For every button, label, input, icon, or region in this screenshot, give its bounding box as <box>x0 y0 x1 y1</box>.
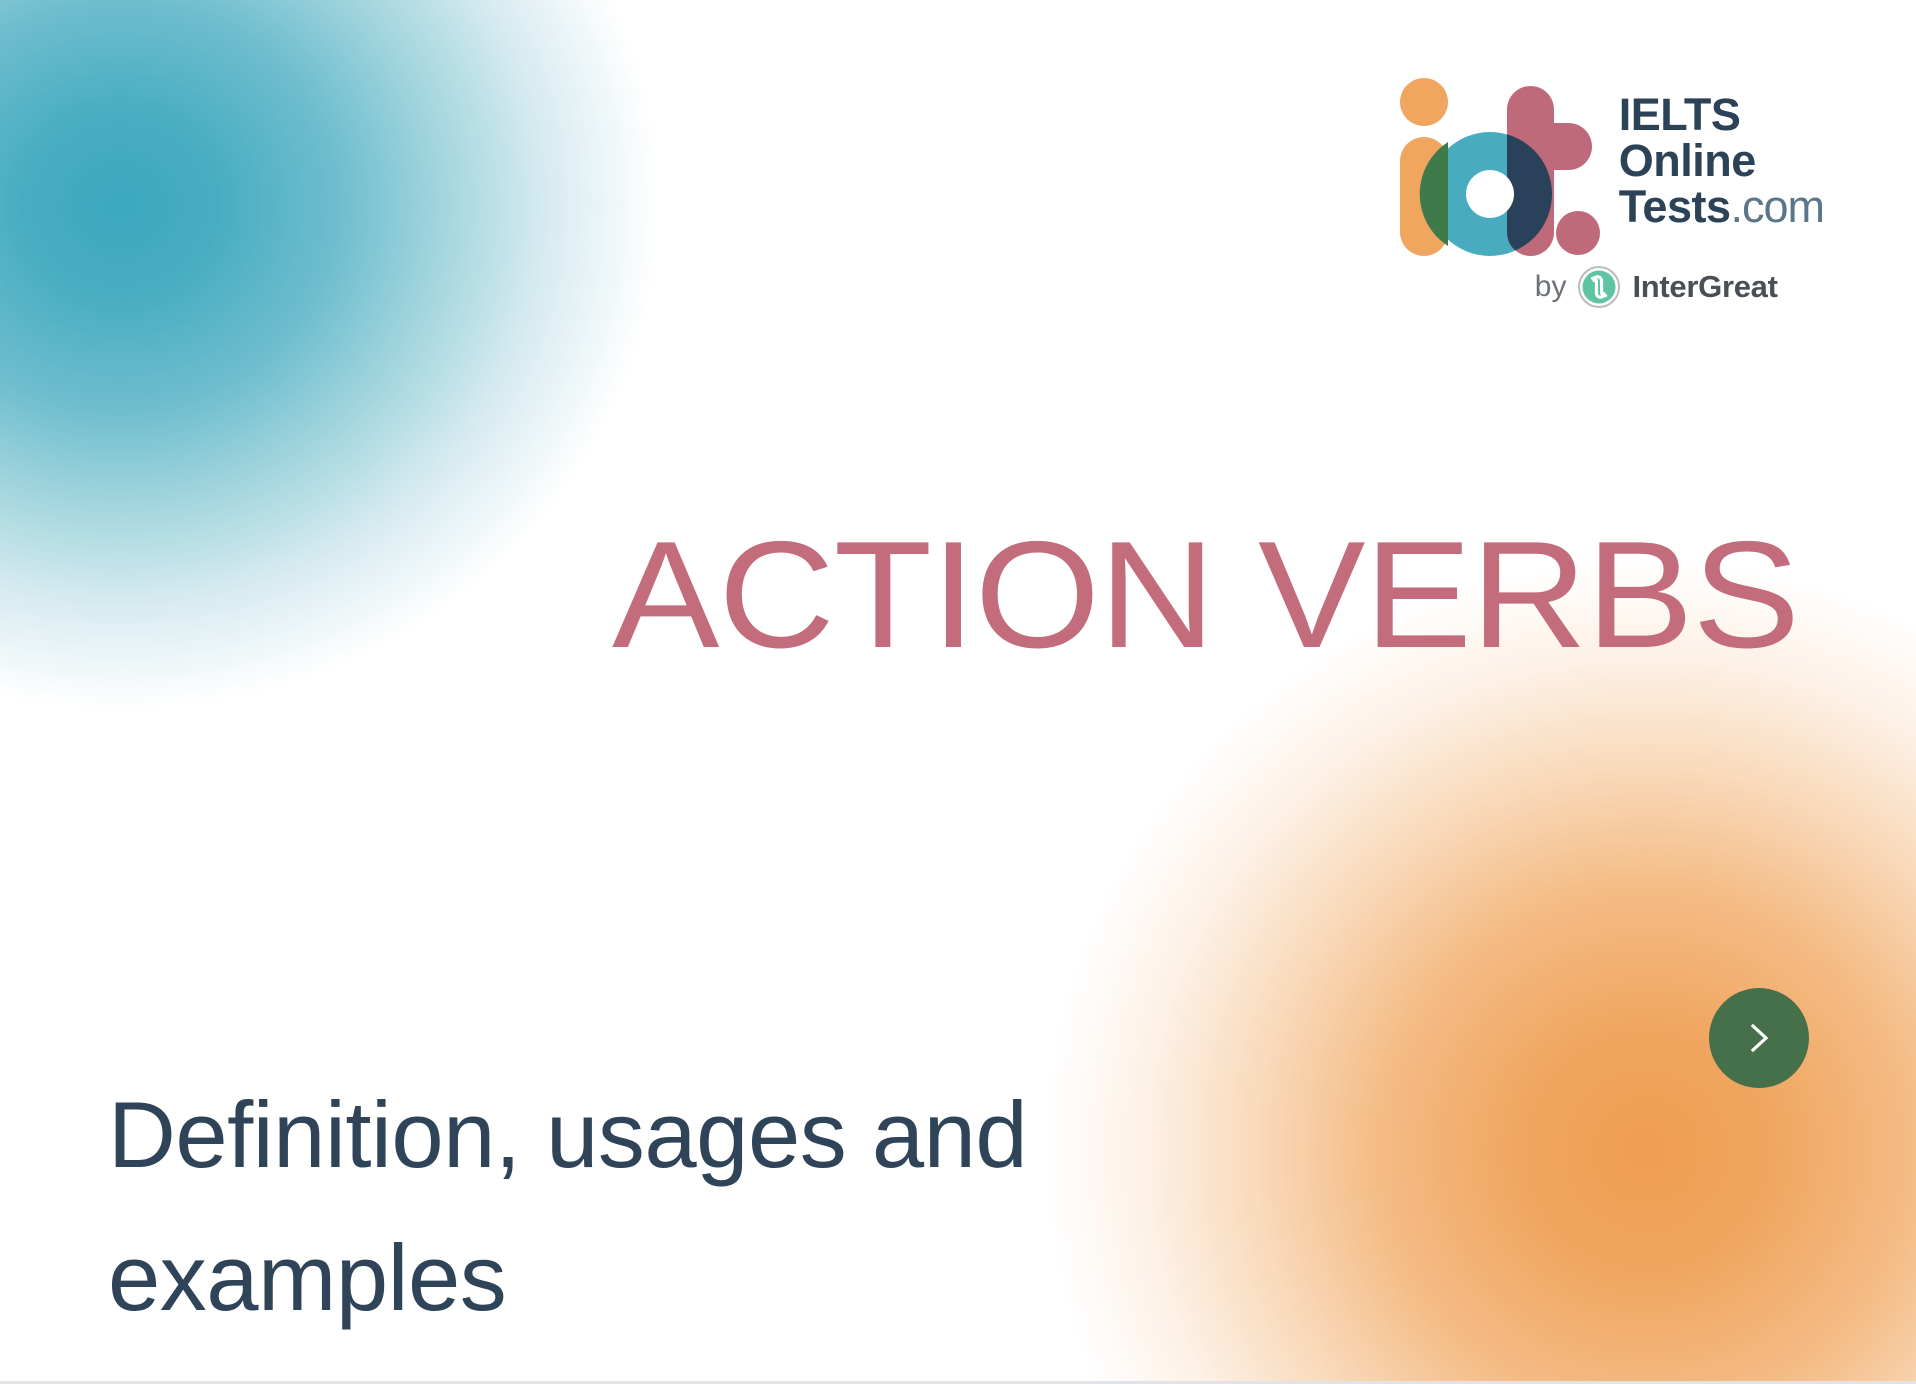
logo-tests-bold: Tests <box>1619 181 1731 232</box>
logo-line-online: Online <box>1619 138 1824 184</box>
iot-logo-mark <box>1397 78 1603 256</box>
logo-line-ielts: IELTS <box>1619 92 1824 138</box>
logo-dotcom-light: .com <box>1730 181 1824 232</box>
brand-logo-lockup[interactable]: IELTS Online Tests.com by InterGreat <box>1397 78 1824 308</box>
page-subtitle: Definition, usages and examples <box>108 1064 1128 1350</box>
orange-gradient-blob <box>1046 561 1916 1384</box>
slide-canvas: IELTS Online Tests.com by InterGreat ACT… <box>0 0 1916 1384</box>
byline-brand: InterGreat <box>1632 269 1777 305</box>
intergreat-swirl-icon <box>1578 266 1620 308</box>
logo-main-row: IELTS Online Tests.com <box>1397 78 1824 256</box>
logo-byline[interactable]: by InterGreat <box>1535 266 1778 308</box>
chevron-right-icon <box>1737 1016 1781 1060</box>
page-title: ACTION VERBS <box>612 519 1873 671</box>
logo-line-tests-com: Tests.com <box>1619 184 1824 230</box>
next-slide-button[interactable] <box>1709 988 1809 1088</box>
byline-prefix: by <box>1535 270 1567 304</box>
teal-gradient-blob <box>0 0 660 710</box>
logo-wordmark: IELTS Online Tests.com <box>1619 78 1824 230</box>
